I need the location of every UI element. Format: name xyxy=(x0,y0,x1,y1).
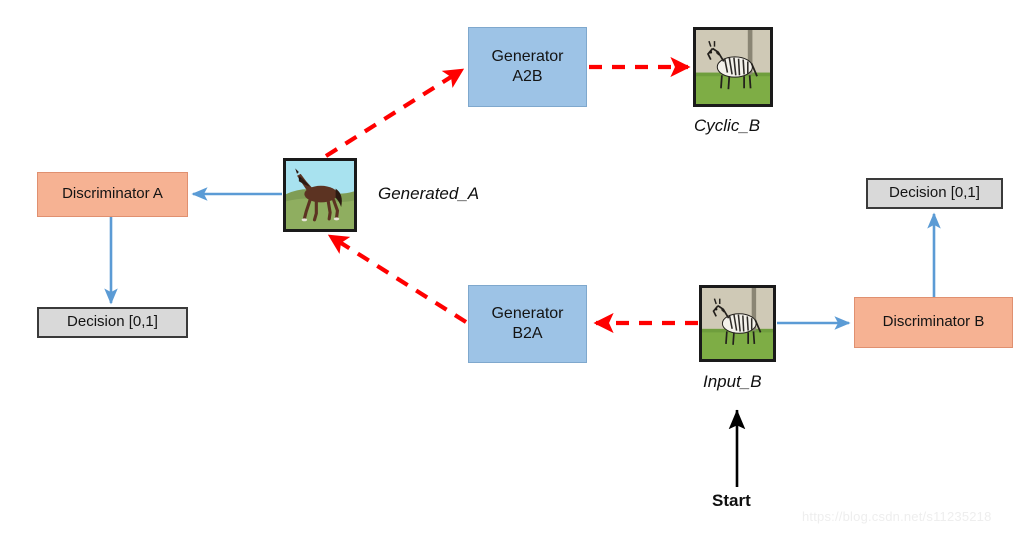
horse-photo-icon xyxy=(286,161,354,229)
generator-b2a-label-line1: Generator xyxy=(491,304,563,324)
start-label: Start xyxy=(712,491,751,511)
node-decision-a[interactable]: Decision [0,1] xyxy=(37,307,188,338)
diagram-canvas: Generator A2B Generator B2A Discriminato… xyxy=(0,0,1032,535)
generator-a2b-label-line2: A2B xyxy=(491,67,563,87)
caption-cyclic-b: Cyclic_B xyxy=(694,116,760,136)
watermark: https://blog.csdn.net/s11235218 xyxy=(802,509,992,524)
image-cyclic-b[interactable] xyxy=(693,27,773,107)
discriminator-a-label: Discriminator A xyxy=(62,185,163,204)
zebra-photo-icon xyxy=(696,30,770,104)
zebra-photo-icon xyxy=(702,288,773,359)
image-input-b[interactable] xyxy=(699,285,776,362)
node-discriminator-a[interactable]: Discriminator A xyxy=(37,172,188,217)
image-generated-a[interactable] xyxy=(283,158,357,232)
node-discriminator-b[interactable]: Discriminator B xyxy=(854,297,1013,348)
caption-generated-a: Generated_A xyxy=(378,184,479,204)
edge-generated-a-to-generator-a2b xyxy=(326,70,462,156)
caption-input-b: Input_B xyxy=(703,372,762,392)
discriminator-b-label: Discriminator B xyxy=(883,313,985,332)
decision-a-label: Decision [0,1] xyxy=(67,313,158,332)
edge-generator-b2a-to-generated-a xyxy=(330,236,466,322)
decision-b-label: Decision [0,1] xyxy=(889,184,980,203)
node-decision-b[interactable]: Decision [0,1] xyxy=(866,178,1003,209)
generator-a2b-label-line1: Generator xyxy=(491,47,563,67)
node-generator-a2b[interactable]: Generator A2B xyxy=(468,27,587,107)
node-generator-b2a[interactable]: Generator B2A xyxy=(468,285,587,363)
generator-b2a-label-line2: B2A xyxy=(491,324,563,344)
